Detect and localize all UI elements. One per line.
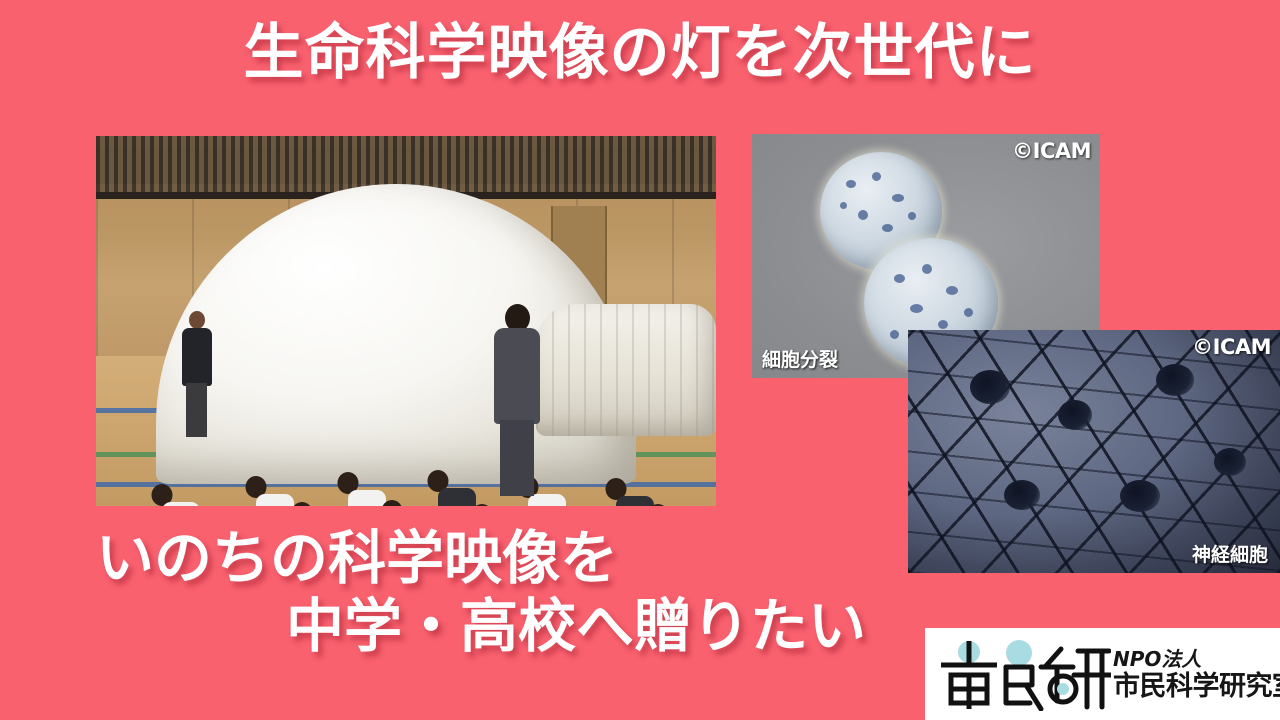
slide-message: いのちの科学映像を 中学・高校へ贈りたい [96, 524, 936, 661]
presenter-head [189, 311, 205, 329]
neuron-soma [1214, 448, 1246, 476]
neuron-culture-photo: ©ICAM 神経細胞 [908, 330, 1280, 573]
photo-caption-cell-division: 細胞分裂 [762, 345, 838, 372]
neuron-soma [1058, 400, 1092, 430]
message-line-1: いのちの科学映像を [96, 524, 618, 592]
organization-logo: NPO法人 市民科学研究室 [925, 628, 1280, 720]
copyright-watermark: ©ICAM [1012, 139, 1091, 163]
message-line-2: 中学・高校へ贈りたい [96, 592, 936, 660]
photo-caption-neuron: 神経細胞 [1192, 540, 1268, 567]
neuron-soma [1156, 364, 1194, 396]
standing-teacher-figure [494, 304, 540, 496]
neuron-soma [970, 370, 1010, 404]
copyright-watermark: ©ICAM [1192, 335, 1271, 359]
neuron-soma [1120, 480, 1160, 512]
shiminken-logo-mark [933, 637, 1111, 711]
seated-students-group [96, 356, 716, 506]
page-title: 生命科学映像の灯を次世代に [0, 22, 1280, 85]
logo-accent-circle [1006, 640, 1032, 666]
logo-text-block: NPO法人 市民科学研究室 [1113, 649, 1280, 700]
neuron-soma [1004, 480, 1040, 510]
logo-npo-label: NPO法人 [1113, 649, 1280, 669]
slide-canvas: 生命科学映像の灯を次世代に [0, 0, 1280, 720]
logo-organization-name: 市民科学研究室 [1113, 673, 1280, 700]
inflatable-dome-school-photo [96, 136, 716, 506]
logo-accent-circle [1057, 683, 1069, 695]
